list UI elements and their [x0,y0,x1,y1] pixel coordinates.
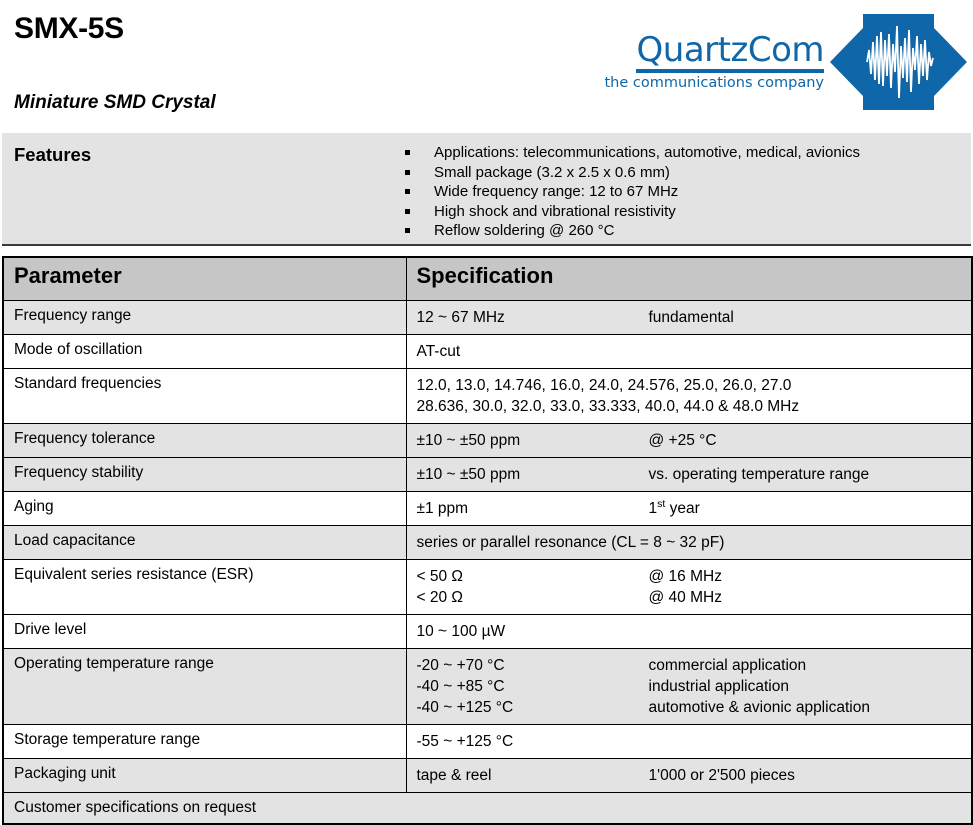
specification-line: 10 ~ 100 µW [417,621,972,642]
parameter-cell: Standard frequencies [3,368,406,423]
bullet-square-icon [405,189,410,194]
parameter-cell: Aging [3,491,406,525]
specification-value: ±10 ~ ±50 ppm [417,430,649,451]
table-row: Storage temperature range-55 ~ +125 °C [3,724,972,758]
parameter-cell: Frequency tolerance [3,423,406,457]
specification-condition: @ 40 MHz [649,587,722,608]
specification-condition: @ 16 MHz [649,566,722,587]
table-row: Frequency tolerance±10 ~ ±50 ppm@ +25 °C [3,423,972,457]
feature-item-label: Wide frequency range: 12 to 67 MHz [434,183,678,200]
table-row: Packaging unittape & reel1'000 or 2'500 … [3,758,972,792]
specification-cell: ±1 ppm1st year [406,491,972,525]
specification-line: -20 ~ +70 °Ccommercial application [417,655,972,676]
company-logo: QuartzCom the communications company [604,14,967,110]
specification-cell: -20 ~ +70 °Ccommercial application-40 ~ … [406,648,972,724]
specification-cell: 12 ~ 67 MHzfundamental [406,300,972,334]
specification-cell: 12.0, 13.0, 14.746, 16.0, 24.0, 24.576, … [406,368,972,423]
specification-line: ±10 ~ ±50 ppm@ +25 °C [417,430,972,451]
parameter-cell: Equivalent series resistance (ESR) [3,559,406,614]
table-row: Mode of oscillationAT-cut [3,334,972,368]
specification-condition: 1'000 or 2'500 pieces [649,765,795,786]
specification-value: -40 ~ +85 °C [417,676,649,697]
specification-line: -55 ~ +125 °C [417,731,972,752]
parameter-cell: Mode of oscillation [3,334,406,368]
table-row: Frequency stability±10 ~ ±50 ppmvs. oper… [3,457,972,491]
specification-line: AT-cut [417,341,972,362]
page-header: SMX-5S Miniature SMD Crystal QuartzCom t… [0,0,973,133]
datasheet-page: SMX-5S Miniature SMD Crystal QuartzCom t… [0,0,973,822]
features-list: Applications: telecommunications, automo… [405,143,860,241]
table-row: Operating temperature range-20 ~ +70 °Cc… [3,648,972,724]
bullet-square-icon [405,150,410,155]
parameter-cell: Frequency range [3,300,406,334]
specification-value: < 50 Ω [417,566,649,587]
feature-item: Wide frequency range: 12 to 67 MHz [405,182,860,202]
specification-line: < 20 Ω@ 40 MHz [417,587,972,608]
specification-line: -40 ~ +125 °Cautomotive & avionic applic… [417,697,972,718]
specification-value: -55 ~ +125 °C [417,731,649,752]
specification-line: ±10 ~ ±50 ppmvs. operating temperature r… [417,464,972,485]
feature-item: Small package (3.2 x 2.5 x 0.6 mm) [405,163,860,183]
specification-cell: -55 ~ +125 °C [406,724,972,758]
customer-specifications-note: Customer specifications on request [3,792,972,824]
specification-condition: fundamental [649,307,734,328]
bullet-square-icon [405,209,410,214]
features-panel: Features Applications: telecommunication… [2,133,971,246]
parameter-cell: Packaging unit [3,758,406,792]
specification-line: 28.636, 30.0, 32.0, 33.0, 33.333, 40.0, … [417,396,972,417]
logo-tagline: the communications company [604,75,824,92]
specification-line: < 50 Ω@ 16 MHz [417,566,972,587]
feature-item: High shock and vibrational resistivity [405,202,860,222]
table-footer-row: Customer specifications on request [3,792,972,824]
logo-wordmark: QuartzCom [637,32,824,68]
column-header-parameter: Parameter [3,257,406,300]
specification-value: 10 ~ 100 µW [417,621,649,642]
specification-condition: industrial application [649,676,789,697]
specification-line: -40 ~ +85 °Cindustrial application [417,676,972,697]
specification-value: -40 ~ +125 °C [417,697,649,718]
feature-item: Reflow soldering @ 260 °C [405,221,860,241]
parameter-cell: Storage temperature range [3,724,406,758]
specification-line: 12 ~ 67 MHzfundamental [417,307,972,328]
specification-cell: 10 ~ 100 µW [406,614,972,648]
parameter-cell: Frequency stability [3,457,406,491]
specification-condition: automotive & avionic application [649,697,870,718]
specification-value: < 20 Ω [417,587,649,608]
table-row: Standard frequencies12.0, 13.0, 14.746, … [3,368,972,423]
specification-line: series or parallel resonance (CL = 8 ~ 3… [417,532,972,553]
specification-condition: @ +25 °C [649,430,717,451]
table-row: Load capacitanceseries or parallel reson… [3,525,972,559]
parameter-cell: Operating temperature range [3,648,406,724]
feature-item-label: Applications: telecommunications, automo… [434,144,860,161]
specification-condition: vs. operating temperature range [649,464,870,485]
specification-table: Parameter Specification Frequency range1… [2,256,973,825]
specification-cell: tape & reel1'000 or 2'500 pieces [406,758,972,792]
bullet-square-icon [405,228,410,233]
table-body: Frequency range12 ~ 67 MHzfundamentalMod… [3,300,972,824]
specification-cell: series or parallel resonance (CL = 8 ~ 3… [406,525,972,559]
feature-item-label: High shock and vibrational resistivity [434,203,676,220]
bullet-square-icon [405,170,410,175]
specification-cell: < 50 Ω@ 16 MHz< 20 Ω@ 40 MHz [406,559,972,614]
page-subtitle: Miniature SMD Crystal [14,92,216,114]
specification-value: tape & reel [417,765,649,786]
specification-condition: commercial application [649,655,807,676]
specification-line: 12.0, 13.0, 14.746, 16.0, 24.0, 24.576, … [417,375,972,396]
table-row: Aging±1 ppm1st year [3,491,972,525]
table-row: Equivalent series resistance (ESR)< 50 Ω… [3,559,972,614]
features-label: Features [14,144,91,166]
parameter-cell: Drive level [3,614,406,648]
feature-item-label: Reflow soldering @ 260 °C [434,222,614,239]
specification-value: 12 ~ 67 MHz [417,307,649,328]
specification-value: ±10 ~ ±50 ppm [417,464,649,485]
specification-line: ±1 ppm1st year [417,498,972,519]
specification-value: ±1 ppm [417,498,649,519]
specification-value: AT-cut [417,341,649,362]
column-header-specification: Specification [406,257,972,300]
waveform-arrows-logo-mark-icon [830,14,967,110]
table-row: Frequency range12 ~ 67 MHzfundamental [3,300,972,334]
logo-underline-rule [636,69,824,73]
table-header-row: Parameter Specification [3,257,972,300]
feature-item-label: Small package (3.2 x 2.5 x 0.6 mm) [434,164,670,181]
specification-cell: ±10 ~ ±50 ppm@ +25 °C [406,423,972,457]
specification-line: tape & reel1'000 or 2'500 pieces [417,765,972,786]
logo-text: QuartzCom the communications company [604,32,830,92]
feature-item: Applications: telecommunications, automo… [405,143,860,163]
page-title: SMX-5S [14,12,124,46]
specification-value: -20 ~ +70 °C [417,655,649,676]
parameter-cell: Load capacitance [3,525,406,559]
specification-cell: AT-cut [406,334,972,368]
specification-cell: ±10 ~ ±50 ppmvs. operating temperature r… [406,457,972,491]
specification-condition: 1st year [649,498,700,519]
table-row: Drive level10 ~ 100 µW [3,614,972,648]
